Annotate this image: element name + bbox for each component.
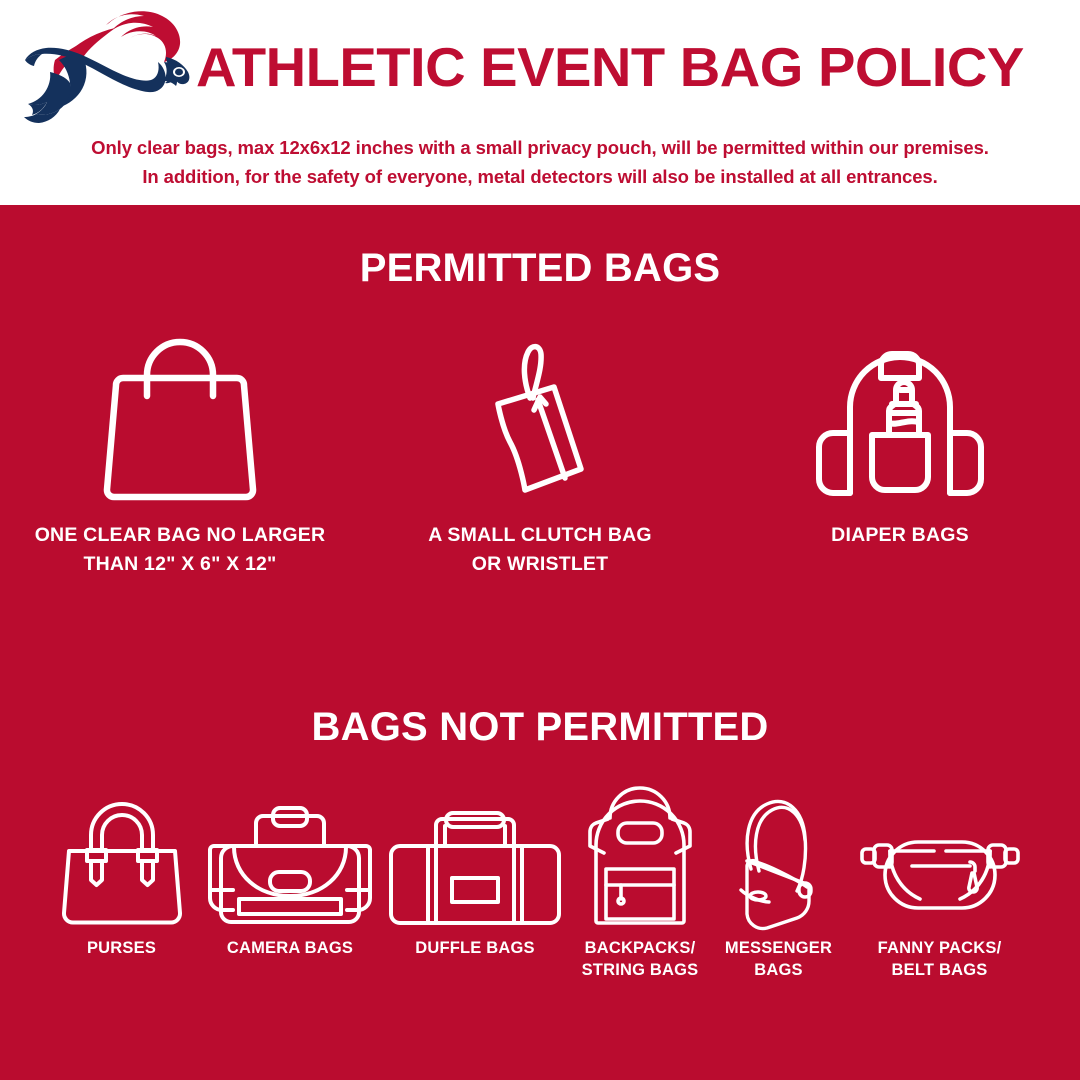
permitted-item-clutch-label: A SMALL CLUTCH BAG OR WRISTLET [428, 521, 652, 580]
not-permitted-item-fanny-packs-label: FANNY PACKS/ BELT BAGS [878, 937, 1002, 982]
not-permitted-item-duffle-bags-label: DUFFLE BAGS [415, 937, 535, 959]
header: ATHLETIC EVENT BAG POLICY Only clear bag… [0, 0, 1080, 205]
label-line-1: ONE CLEAR BAG NO LARGER [35, 524, 326, 546]
label-line-2: OR WRISTLET [472, 553, 609, 575]
not-permitted-item-camera-bags-label: CAMERA BAGS [227, 937, 353, 959]
not-permitted-bags-row: PURSES CAMERA BAGS [0, 795, 1080, 1025]
duffle-bag-icon [390, 795, 560, 925]
not-permitted-item-camera-bags: CAMERA BAGS [198, 795, 383, 959]
page-title: ATHLETIC EVENT BAG POLICY [196, 40, 1080, 95]
backpack-icon [584, 795, 696, 925]
not-permitted-item-duffle-bags: DUFFLE BAGS [383, 795, 568, 959]
header-top-row: ATHLETIC EVENT BAG POLICY [0, 8, 1080, 126]
not-permitted-item-fanny-packs: FANNY PACKS/ BELT BAGS [845, 795, 1035, 982]
purse-icon [61, 795, 183, 925]
leaping-lion-logo [6, 8, 206, 126]
not-permitted-item-backpacks-label: BACKPACKS/ STRING BAGS [582, 937, 699, 982]
permitted-item-diaper-bag: DIAPER BAGS [730, 330, 1070, 550]
clutch-wristlet-icon [480, 330, 600, 515]
not-permitted-item-messenger-bags: MESSENGER BAGS [713, 795, 845, 982]
not-permitted-item-purses: PURSES [46, 795, 198, 959]
label-line-1: A SMALL CLUTCH BAG [428, 524, 652, 546]
fanny-pack-icon [856, 795, 1024, 925]
camera-bag-icon [207, 795, 373, 925]
label-line-2: THAN 12" X 6" X 12" [83, 553, 276, 575]
tote-bag-icon [109, 330, 251, 515]
permitted-item-clear-bag: ONE CLEAR BAG NO LARGER THAN 12" X 6" X … [10, 330, 350, 580]
label-line-1: DIAPER BAGS [831, 524, 969, 546]
permitted-item-clear-bag-label: ONE CLEAR BAG NO LARGER THAN 12" X 6" X … [35, 521, 326, 580]
bag-policy-infographic: ATHLETIC EVENT BAG POLICY Only clear bag… [0, 0, 1080, 1080]
not-permitted-item-backpacks: BACKPACKS/ STRING BAGS [568, 795, 713, 982]
diaper-bag-icon [817, 330, 983, 515]
bags-not-permitted-heading: BAGS NOT PERMITTED [0, 705, 1080, 750]
permitted-bags-row: ONE CLEAR BAG NO LARGER THAN 12" X 6" X … [0, 330, 1080, 610]
not-permitted-item-messenger-bags-label: MESSENGER BAGS [725, 937, 832, 982]
permitted-bags-heading: PERMITTED BAGS [0, 246, 1080, 291]
permitted-item-diaper-bag-label: DIAPER BAGS [831, 521, 969, 550]
not-permitted-item-purses-label: PURSES [87, 937, 156, 959]
policy-subtitle-line-1: Only clear bags, max 12x6x12 inches with… [91, 137, 989, 158]
policy-subtitle-line-2: In addition, for the safety of everyone,… [0, 163, 1080, 192]
messenger-bag-icon [727, 795, 831, 925]
permitted-item-clutch: A SMALL CLUTCH BAG OR WRISTLET [370, 330, 710, 580]
policy-subtitle: Only clear bags, max 12x6x12 inches with… [0, 134, 1080, 191]
